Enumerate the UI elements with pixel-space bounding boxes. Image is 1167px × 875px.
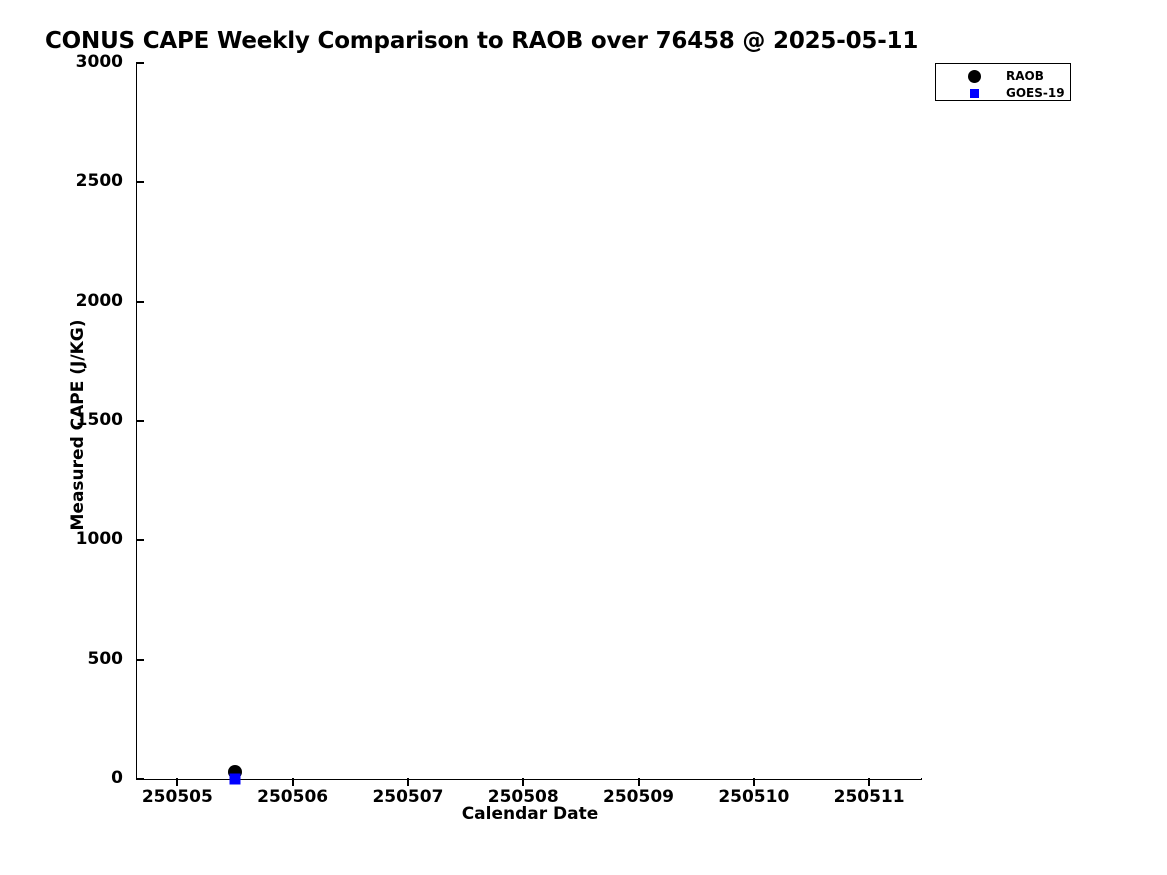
x-axis-title: Calendar Date xyxy=(0,804,1060,824)
plot-area xyxy=(137,63,921,779)
legend-label: GOES-19 xyxy=(1006,86,1065,100)
x-tick-mark xyxy=(868,778,870,786)
x-tick-mark xyxy=(407,778,409,786)
x-tick-mark xyxy=(522,778,524,786)
y-tick-mark xyxy=(136,181,144,183)
legend-square-icon xyxy=(970,89,979,98)
chart-legend: RAOBGOES-19 xyxy=(935,63,1071,101)
legend-label: RAOB xyxy=(1006,69,1044,83)
x-tick-mark xyxy=(292,778,294,786)
chart-figure: CONUS CAPE Weekly Comparison to RAOB ove… xyxy=(0,0,1167,875)
y-tick-mark xyxy=(136,420,144,422)
legend-entry: GOES-19 xyxy=(936,86,1070,102)
y-axis-title: Measured CAPE (J/KG) xyxy=(68,55,88,795)
y-tick-mark xyxy=(136,659,144,661)
y-tick-mark xyxy=(136,539,144,541)
legend-entry: RAOB xyxy=(936,69,1070,85)
data-point-goes-19 xyxy=(230,774,241,785)
y-tick-mark xyxy=(136,62,144,64)
x-tick-mark xyxy=(753,778,755,786)
x-tick-mark xyxy=(176,778,178,786)
legend-circle-icon xyxy=(968,70,981,83)
y-tick-mark xyxy=(136,778,144,780)
x-tick-mark xyxy=(638,778,640,786)
y-tick-mark xyxy=(136,301,144,303)
page-title: CONUS CAPE Weekly Comparison to RAOB ove… xyxy=(45,28,918,54)
